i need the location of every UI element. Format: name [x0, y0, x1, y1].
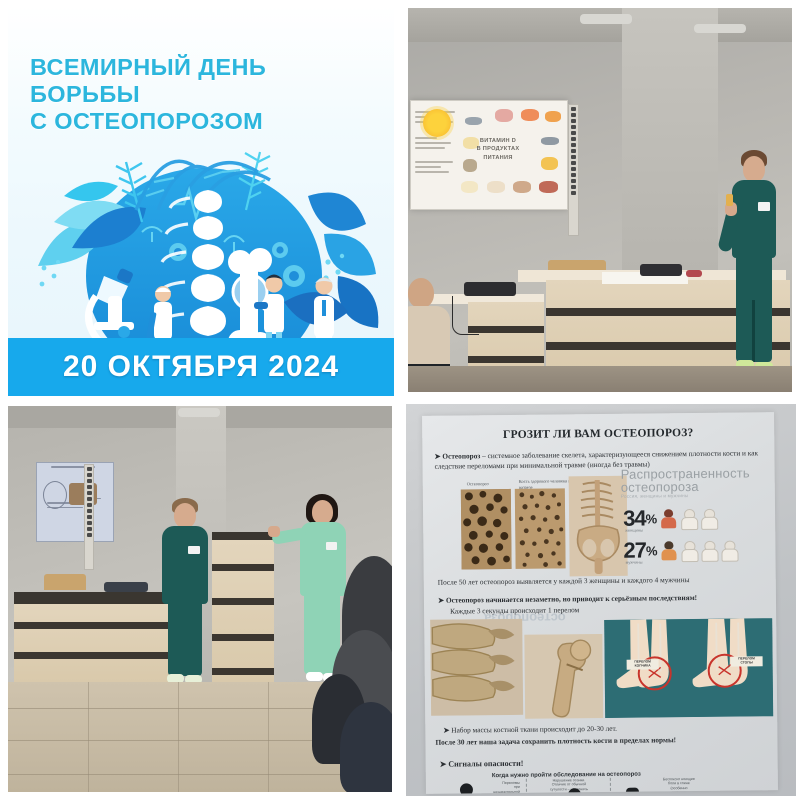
handout-bullet-3-text: Набор массы костной ткани происходит до …: [451, 724, 617, 735]
podium-body: [212, 540, 274, 682]
handout-bullet-2-text: Остеопороз начинается незаметно, но прив…: [446, 593, 697, 605]
presenter-pointer-device: [726, 194, 733, 206]
two-speakers-scene: [8, 406, 392, 792]
speaker-left-badge: [188, 546, 200, 554]
podium-band-3: [212, 634, 274, 641]
sun-graphic: [423, 109, 451, 137]
skeleton-pelvis-image: [569, 476, 628, 577]
desk-small-band-1: [468, 326, 544, 333]
desk-small-band-2: [468, 356, 544, 363]
presenter-name-badge: [758, 202, 770, 211]
speaker-right-head: [312, 500, 333, 524]
collage-cell-two-speakers: [0, 400, 400, 800]
whiteboard-marker-tray: [84, 464, 94, 570]
desk-long-band-1: [14, 622, 174, 629]
red-item-on-desk: [686, 270, 702, 277]
audience-shoulders: [408, 306, 450, 366]
handout-title: ГРОЗИТ ЛИ ВАМ ОСТЕОПОРОЗ?: [422, 426, 774, 442]
speaker-right-hand: [268, 526, 280, 537]
floor: [408, 366, 792, 392]
handout-bullet-2-line2: Каждые 3 секунды происходит 1 перелом: [450, 603, 770, 616]
desk-long-front: [14, 604, 174, 682]
fracture-tag-2: ПЕРЕЛОМСТОПЫ: [731, 656, 763, 666]
ceiling-light: [178, 408, 220, 417]
promo-date-text: 20 ОКТЯБРЯ 2024: [63, 350, 339, 384]
food-eggs: [487, 181, 505, 193]
handout-bullet-3-line2: После 30 лет наша задача сохранить плотн…: [435, 734, 773, 747]
projection-screen-small: [36, 462, 114, 542]
figure-women-empty-1: [680, 508, 697, 527]
podium-band-2: [212, 598, 274, 605]
stats-heading: Распространенность остеопороза Россия, ж…: [621, 466, 771, 499]
photo-handout: остеопороза ДИАГНОЗ ВНИМАНИЕ ГРОЗИТ ЛИ В…: [406, 404, 796, 796]
collage-cell-promo-poster: ВСЕМИРНЫЙ ДЕНЬ БОРЬБЫ С ОСТЕОПОРОЗОМ: [0, 0, 400, 400]
podium-band-4: [212, 668, 274, 675]
dense-bone-pattern: [515, 488, 566, 569]
food-liver: [513, 181, 531, 193]
handout-bullet-4: ➤ Сигналы опасности!: [440, 759, 524, 770]
figure-men-filled: [660, 541, 677, 560]
promo-title-line1: ВСЕМИРНЫЙ ДЕНЬ БОРЬБЫ: [30, 54, 266, 107]
micrograph-osteoporotic-bone: [461, 489, 512, 570]
photo-two-speakers: [8, 406, 392, 792]
speaker-right-badge: [326, 542, 337, 550]
projection-screen: ВИТАМИН D В ПРОДУКТАХ ПИТАНИЯ: [410, 100, 568, 210]
food-caviar: [545, 111, 561, 122]
figure-women-empty-2: [700, 508, 717, 527]
speaker-right-top: [300, 522, 346, 596]
speaker-left-head: [174, 503, 196, 528]
ceiling-light-2: [694, 24, 746, 33]
figure-women-filled: [660, 509, 677, 528]
food-brain: [495, 109, 513, 122]
audience-member-4: [340, 702, 392, 792]
porous-bone-pattern: [461, 489, 512, 570]
collage-cell-lecture-vitamin-d: ВИТАМИН D В ПРОДУКТАХ ПИТАНИЯ: [400, 0, 800, 400]
presenter-head: [743, 156, 765, 182]
handout-intro-term: Остеопороз: [442, 451, 480, 460]
projector: [464, 282, 516, 296]
bullet-arrow-4: ➤: [440, 760, 447, 769]
micrograph-healthy-bone: [515, 488, 566, 569]
stat-women-caption: женщины: [625, 528, 643, 533]
hip-fracture-image: [524, 634, 603, 719]
figure-men-empty-2: [700, 540, 717, 559]
audience-head: [408, 278, 434, 308]
speaker-right-shoe-1: [306, 672, 323, 681]
divider-1: [526, 779, 527, 794]
handout-bullet-4-title: Сигналы опасности!: [448, 759, 523, 769]
vertebrae-image: [430, 619, 523, 716]
slide-title-line1: ВИТАМИН D: [459, 137, 537, 145]
whiteboard-marker-tray: [568, 104, 579, 236]
ceiling-light-1: [580, 14, 632, 24]
food-egg-yolk: [541, 157, 558, 170]
speaker-left-trousers: [168, 600, 202, 676]
chair: [44, 574, 86, 590]
slide-title-line2: В ПРОДУКТАХ: [459, 145, 537, 153]
image-label-left: Остеопороз: [467, 481, 489, 487]
pelvis-svg: [569, 476, 628, 577]
items-on-desk: [104, 582, 148, 592]
photo-lecture-vitamin-d: ВИТАМИН D В ПРОДУКТАХ ПИТАНИЯ: [408, 8, 792, 392]
fracture-legs-image: ПЕРЕЛОМКОПЧИКА ПЕРЕЛОМСТОПЫ: [604, 618, 773, 718]
bullet-arrow-2: ➤: [438, 596, 444, 605]
lecture-scene: ВИТАМИН D В ПРОДУКТАХ ПИТАНИЯ: [408, 8, 792, 392]
promo-poster: ВСЕМИРНЫЙ ДЕНЬ БОРЬБЫ С ОСТЕОПОРОЗОМ: [8, 6, 394, 396]
food-butter: [461, 181, 478, 193]
bullet-arrow-3: ➤: [443, 726, 449, 735]
handout-bullet-3-line1: ➤ Набор массы костной ткани происходит д…: [443, 722, 769, 735]
presenter-vitamin-d: [724, 150, 784, 376]
handout-sheet: остеопороза ДИАГНОЗ ВНИМАНИЕ ГРОЗИТ ЛИ В…: [422, 412, 778, 794]
fracture-tag-1: ПЕРЕЛОМКОПЧИКА: [627, 659, 659, 669]
vertebrae-svg: [430, 619, 523, 716]
figure-men-empty-3: [720, 540, 737, 559]
stat-men-caption: мужчины: [626, 560, 643, 565]
hip-fracture-svg: [524, 634, 603, 719]
promo-date-band: 20 ОКТЯБРЯ 2024: [8, 338, 394, 396]
danger-icon-1: [460, 783, 473, 793]
slide-title-line3: ПИТАНИЯ: [459, 154, 537, 162]
bullet-arrow-1: ➤: [434, 452, 440, 461]
food-salmon: [521, 109, 539, 121]
divider-2: [610, 778, 611, 794]
collage-cell-handout: остеопороза ДИАГНОЗ ВНИМАНИЕ ГРОЗИТ ЛИ В…: [400, 400, 800, 800]
food-fish: [465, 117, 482, 125]
speaker-left: [158, 498, 216, 688]
food-herring: [541, 137, 559, 145]
osteoporosis-illustration-svg: [8, 126, 394, 356]
podium-band-1: [212, 564, 274, 571]
photo-collage: ВСЕМИРНЫЙ ДЕНЬ БОРЬБЫ С ОСТЕОПОРОЗОМ: [0, 0, 800, 800]
promo-illustration: [8, 126, 394, 356]
handout-note-after-stats: После 50 лет остеопороз выявляется у каж…: [438, 574, 768, 587]
equipment-on-desk: [640, 264, 682, 276]
desk-long-band-2: [14, 652, 174, 659]
food-meat: [539, 181, 558, 193]
presenter-trouser-seam: [752, 300, 755, 362]
figure-men-empty-1: [680, 540, 697, 559]
stat-men-unit: %: [646, 543, 658, 558]
speaker-left-top: [162, 526, 208, 604]
promo-poster-title: ВСЕМИРНЫЙ ДЕНЬ БОРЬБЫ С ОСТЕОПОРОЗОМ: [30, 54, 380, 134]
danger-column-1: Переломыпринезначительнойтравме!: [476, 781, 520, 794]
slide-title: ВИТАМИН D В ПРОДУКТАХ ПИТАНИЯ: [459, 137, 537, 162]
stat-women-unit: %: [646, 511, 658, 526]
